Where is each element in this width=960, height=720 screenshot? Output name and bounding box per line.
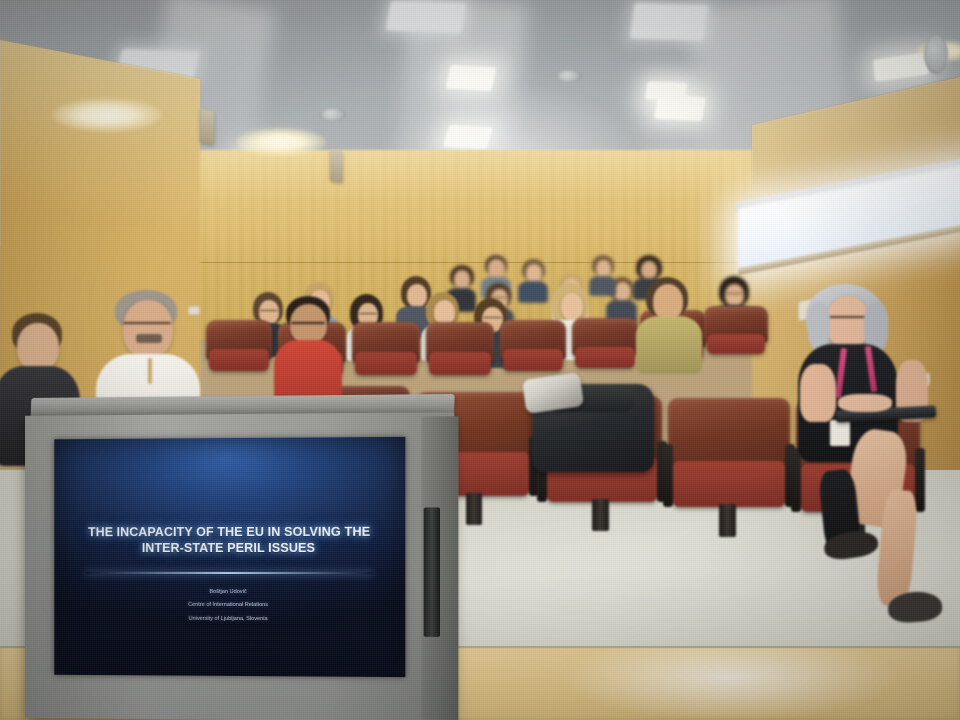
ceiling-light: [645, 81, 688, 100]
ceiling-speaker-icon: [556, 70, 582, 82]
auditorium-seat: [352, 322, 420, 388]
wall-speaker-icon: [200, 109, 214, 145]
auditorium-seat: [704, 306, 768, 366]
slide-affiliation: Centre of International Relations: [75, 599, 384, 614]
auditorium-seat: [206, 320, 272, 384]
ceiling-light: [443, 125, 493, 149]
slide-title-line-2: INTER-STATE PERIL ISSUES: [68, 540, 391, 557]
wall-light: [52, 98, 162, 132]
name-badge: [830, 420, 850, 446]
slide-institution: University of Ljubljana, Slovenia: [75, 612, 384, 627]
slide-title-line-1: THE INCAPACITY OF THE EU IN SOLVING THE: [68, 523, 391, 540]
arm: [800, 364, 836, 422]
lecture-hall-photo: THE INCAPACITY OF THE EU IN SOLVING THE …: [0, 0, 960, 720]
slide-subtitle: Boštjan Udovič Centre of International R…: [75, 585, 384, 627]
auditorium-seat: [572, 318, 638, 380]
hands: [838, 394, 892, 412]
wall-light: [236, 128, 326, 156]
auditorium-seat: [426, 322, 494, 388]
lectern-hinge: [424, 507, 440, 636]
slide-author: Boštjan Udovič: [75, 585, 384, 599]
ceiling-speaker-icon: [320, 108, 346, 121]
ceiling-light: [445, 65, 496, 91]
lectern: THE INCAPACITY OF THE EU IN SOLVING THE …: [25, 394, 462, 720]
wall-panel-seam: [180, 262, 760, 263]
ceiling-light: [629, 3, 708, 42]
wall-speaker-icon: [924, 34, 948, 74]
slide-divider: [85, 572, 373, 574]
wall-speaker-icon: [330, 149, 343, 183]
slide-title: THE INCAPACITY OF THE EU IN SOLVING THE …: [68, 523, 391, 557]
ceiling-light: [385, 1, 466, 34]
wall-outlet-icon: [188, 306, 200, 315]
presentation-monitor[interactable]: THE INCAPACITY OF THE EU IN SOLVING THE …: [54, 437, 405, 677]
step-highlight: [560, 648, 900, 720]
auditorium-seat: [668, 398, 790, 534]
